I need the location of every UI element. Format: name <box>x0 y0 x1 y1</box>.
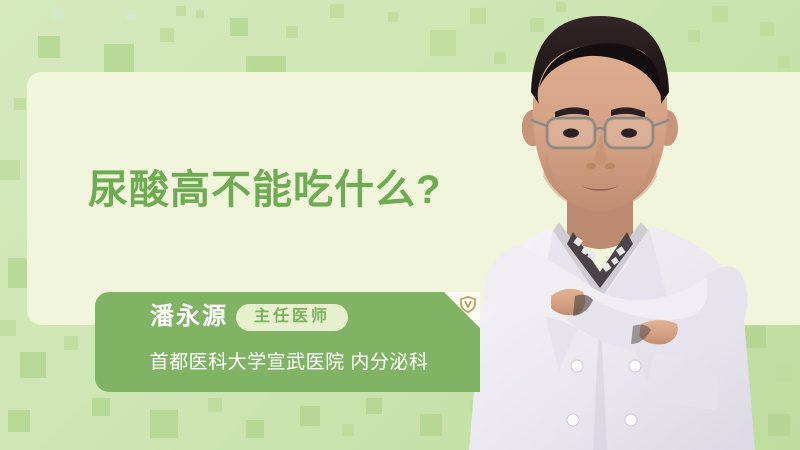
background-square <box>0 160 20 180</box>
background-square <box>430 30 456 56</box>
background-square <box>8 410 30 432</box>
background-square <box>176 6 186 16</box>
background-square <box>38 36 60 58</box>
background-square <box>246 420 264 438</box>
doctor-name: 潘永源 <box>150 305 228 329</box>
background-square <box>388 12 398 22</box>
doctor-info-bar: 潘永源 主任医师 首都医科大学宣武医院 内分泌科 <box>95 292 480 392</box>
background-square <box>104 44 134 74</box>
shield-verified-icon <box>460 296 476 313</box>
background-square <box>14 98 26 110</box>
background-square <box>20 352 46 378</box>
doctor-portrait-illustration <box>455 0 800 450</box>
promo-card: 尿酸高不能吃什么? <box>0 0 800 450</box>
background-square <box>92 398 110 416</box>
doctor-rank-badge: 主任医师 <box>236 304 348 331</box>
doctor-affiliation: 首都医科大学宣武医院 内分泌科 <box>109 347 469 374</box>
background-square <box>64 336 78 350</box>
background-square <box>230 18 248 36</box>
background-square <box>286 26 298 38</box>
background-square <box>150 410 178 438</box>
background-square <box>366 398 382 414</box>
page-title: 尿酸高不能吃什么? <box>88 170 441 210</box>
background-square <box>420 414 442 436</box>
background-square <box>342 424 354 436</box>
doctor-name-row: 潘永源 主任医师 <box>150 304 348 331</box>
background-square <box>330 4 344 18</box>
background-square <box>126 10 136 20</box>
background-square <box>196 10 204 18</box>
background-square <box>208 398 222 412</box>
background-square <box>0 320 16 336</box>
background-square <box>52 8 64 20</box>
background-square <box>300 406 320 426</box>
doctor-portrait <box>455 0 800 450</box>
background-square <box>160 28 174 42</box>
